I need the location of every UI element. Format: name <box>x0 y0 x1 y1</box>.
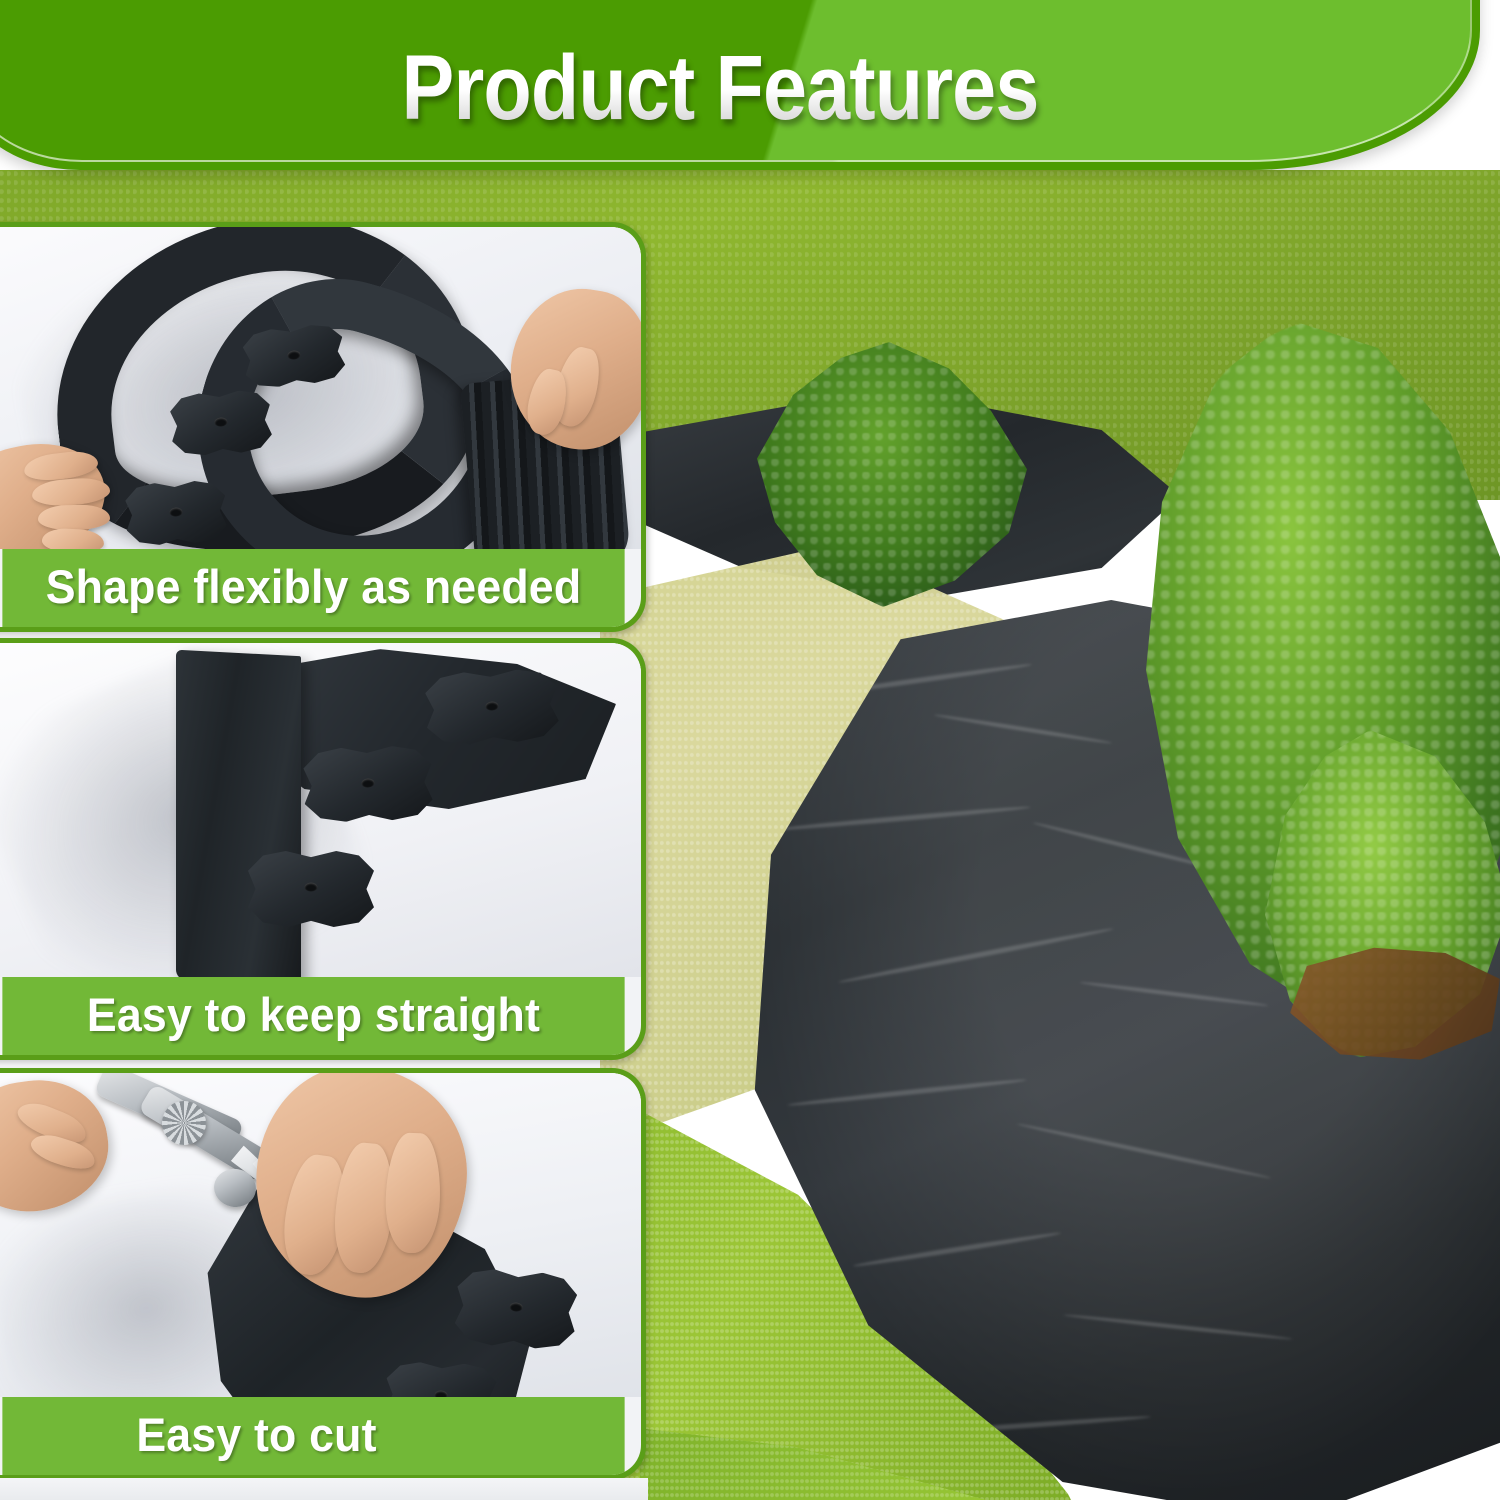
feature-card-2: Easy to keep straight <box>0 638 646 1060</box>
feature-card-2-body: Easy to keep straight <box>0 643 641 1055</box>
feature-card-3: Easy to cut <box>0 1068 646 1480</box>
stake-tab <box>453 1267 578 1351</box>
stake-tab <box>424 668 560 747</box>
feature-card-3-body: Easy to cut <box>0 1073 641 1475</box>
header-banner: Product Features <box>0 0 1480 170</box>
bottom-background-strip <box>0 1478 648 1500</box>
edging-strip-vertical <box>176 650 301 977</box>
feature-card-1: Shape flexibly as needed <box>0 222 646 632</box>
stake-tab <box>248 851 374 927</box>
feature-2-photo <box>0 643 641 977</box>
feature-3-photo <box>0 1073 641 1397</box>
page-title: Product Features <box>66 42 1373 134</box>
stake-tab <box>303 745 434 823</box>
feature-2-label: Easy to keep straight <box>2 977 624 1055</box>
feature-1-label: Shape flexibly as needed <box>2 549 624 627</box>
infographic-canvas: Product Features <box>0 0 1500 1500</box>
feature-3-label: Easy to cut <box>2 1397 624 1475</box>
snips-spring <box>162 1101 206 1145</box>
stake-tab <box>169 389 273 458</box>
feature-card-1-body: Shape flexibly as needed <box>0 227 641 627</box>
stake-tab <box>124 479 227 546</box>
feature-1-photo <box>0 227 641 549</box>
